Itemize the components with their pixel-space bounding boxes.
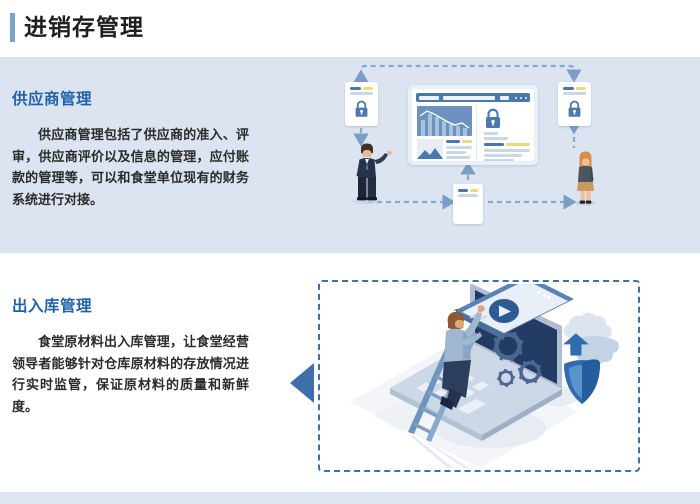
document-card-right[interactable] xyxy=(558,82,591,126)
bottom-strip xyxy=(0,492,700,504)
browser-dashboard-window[interactable] xyxy=(408,85,538,165)
supplier-dashboard-illustration xyxy=(318,62,618,240)
lock-icon xyxy=(567,100,582,123)
bar-chart-panel xyxy=(417,106,472,136)
section-body-inventory: 食堂原材料出入库管理，让食堂经营领导者能够针对仓库原材料的存放情况进行实时监管，… xyxy=(12,331,249,417)
lock-icon xyxy=(484,108,502,134)
section-supplier-text: 供应商管理 供应商管理包括了供应商的准入、评审，供应商评价以及信息的管理，应付账… xyxy=(12,90,262,210)
section-body-supplier: 供应商管理包括了供应商的准入、评审，供应商评价以及信息的管理，应付账款的管理等，… xyxy=(12,124,249,210)
document-card-left[interactable] xyxy=(345,82,378,126)
chart-trend-line xyxy=(417,106,472,136)
businesswoman-figure xyxy=(573,150,599,211)
play-button-icon xyxy=(489,299,519,323)
document-card-bottom[interactable] xyxy=(453,184,483,224)
section-inventory-text: 出入库管理 食堂原材料出入库管理，让食堂经营领导者能够针对仓库原材料的存放情况进… xyxy=(12,297,262,417)
thumbnail-panel xyxy=(417,139,443,159)
page-title: 进销存管理 xyxy=(24,11,144,43)
panel-divider xyxy=(476,105,477,160)
mountain-thumbnail-icon xyxy=(417,146,443,159)
page-root: 进销存管理 供应商管理 供应商管理包括了供应商的准入、评审，供应商评价以及信息的… xyxy=(0,0,700,504)
page-header: 进销存管理 xyxy=(0,0,700,57)
browser-address-bar[interactable] xyxy=(416,93,530,102)
section-heading-supplier: 供应商管理 xyxy=(12,90,262,110)
left-pointing-triangle-marker xyxy=(290,363,314,403)
browser-content xyxy=(412,89,534,161)
inventory-laptop-illustration xyxy=(330,284,630,468)
lock-icon xyxy=(354,100,369,123)
title-accent-bar xyxy=(10,13,15,42)
businessman-figure xyxy=(351,142,393,209)
cloud-upload-icon xyxy=(563,313,619,366)
section-heading-inventory: 出入库管理 xyxy=(12,297,262,317)
